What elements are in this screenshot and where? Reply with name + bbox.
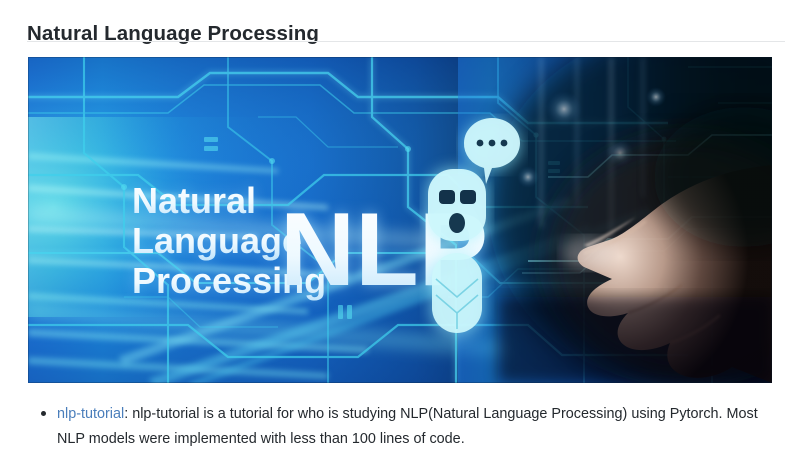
nlp-banner-image: Natural Language Processing Natural Lang… xyxy=(28,57,772,383)
list-item: nlp-tutorial: nlp-tutorial is a tutorial… xyxy=(28,402,788,452)
nlp-tutorial-link[interactable]: nlp-tutorial xyxy=(57,406,124,422)
banner-graphic: Natural Language Processing Natural Lang… xyxy=(28,57,772,383)
content-list: nlp-tutorial: nlp-tutorial is a tutorial… xyxy=(28,402,788,452)
page-title: Natural Language Processing xyxy=(27,20,319,48)
list-bullet-icon xyxy=(41,411,46,416)
banner-headline-natural: Natural xyxy=(132,180,256,221)
page-root: Natural Language Processing xyxy=(0,0,800,468)
list-item-body: nlp-tutorial is a tutorial for who is st… xyxy=(57,406,758,447)
banner-headline-language: Language xyxy=(132,220,302,261)
title-divider xyxy=(27,41,785,42)
